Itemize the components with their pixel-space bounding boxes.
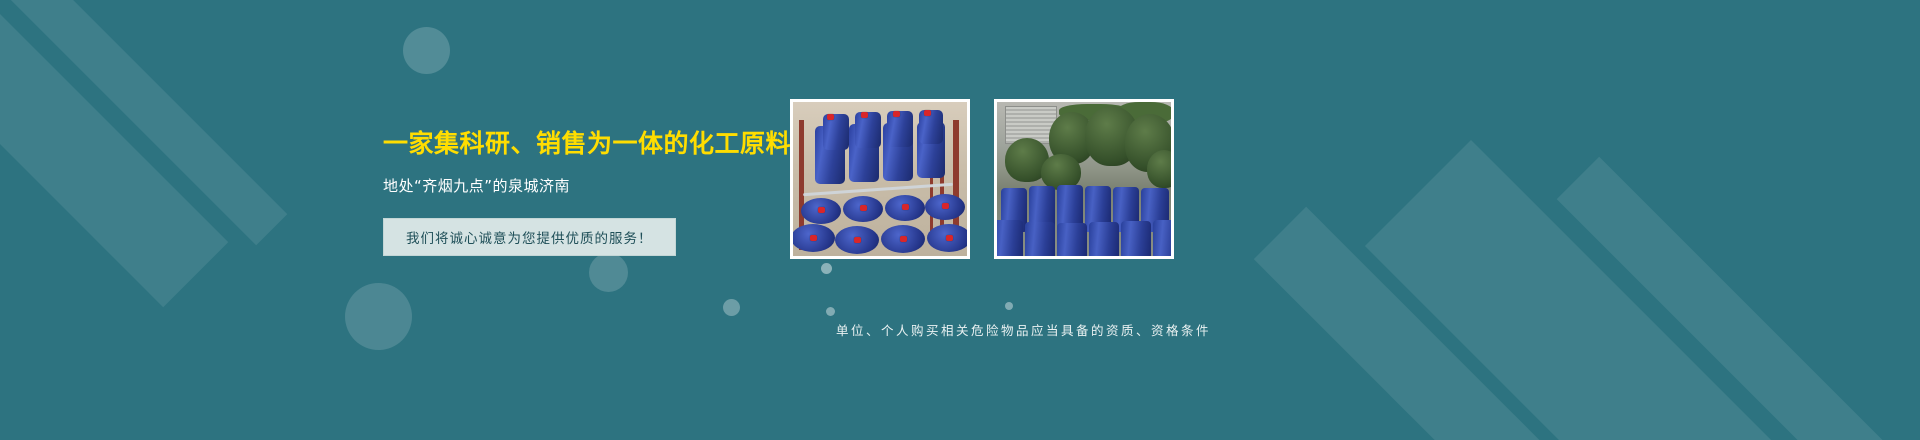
decorative-circle-icon bbox=[345, 283, 412, 350]
banner-text-block: 一家集科研、销售为一体的化工原料公司 地处“齐烟九点”的泉城济南 我们将诚心诚意… bbox=[383, 128, 783, 256]
decorative-circle-icon bbox=[1005, 302, 1013, 310]
photo-gallery bbox=[790, 99, 1174, 259]
outdoor-yard-scene bbox=[997, 102, 1171, 256]
photo-blue-chemical-drums[interactable] bbox=[790, 99, 970, 259]
drum-yard-scene bbox=[793, 102, 967, 256]
diagonal-stripe-icon bbox=[1557, 157, 1903, 440]
banner-subtitle: 地处“齐烟九点”的泉城济南 bbox=[383, 175, 783, 196]
diagonal-stripe-icon bbox=[0, 0, 228, 307]
decorative-circle-icon bbox=[589, 253, 628, 292]
diagonal-stripe-icon bbox=[0, 0, 287, 245]
diagonal-stripe-icon bbox=[1254, 207, 1610, 440]
service-promise-button[interactable]: 我们将诚心诚意为您提供优质的服务！ bbox=[383, 218, 676, 256]
page-title: 一家集科研、销售为一体的化工原料公司 bbox=[383, 128, 783, 161]
diagonal-stripe-icon bbox=[1365, 140, 1775, 440]
decorative-circle-icon bbox=[403, 27, 450, 74]
decorative-circle-icon bbox=[723, 299, 740, 316]
compliance-caption: 单位、个人购买相关危险物品应当具备的资质、资格条件 bbox=[836, 320, 1211, 339]
decorative-circle-icon bbox=[821, 263, 832, 274]
promo-banner: 一家集科研、销售为一体的化工原料公司 地处“齐烟九点”的泉城济南 我们将诚心诚意… bbox=[0, 0, 1920, 440]
photo-drums-outdoor-greenery[interactable] bbox=[994, 99, 1174, 259]
decorative-circle-icon bbox=[826, 307, 835, 316]
